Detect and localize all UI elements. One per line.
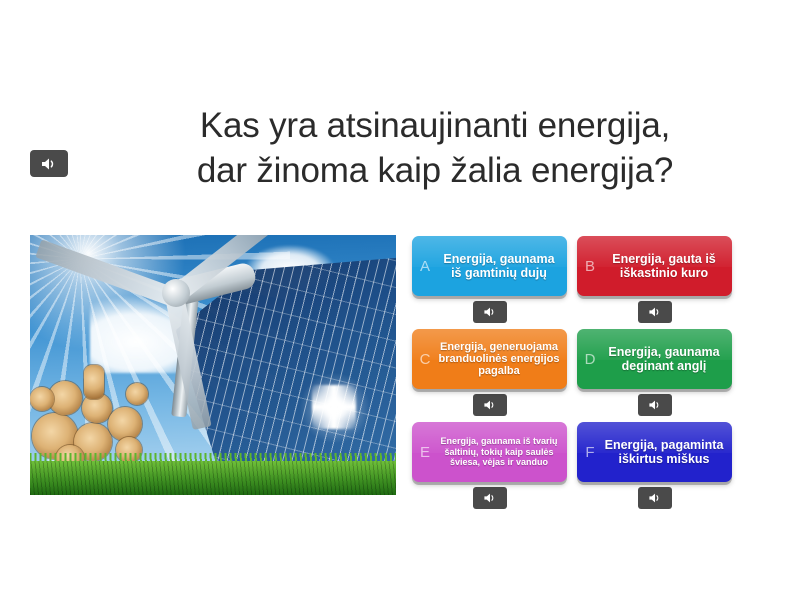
answer-cell-d: D Energija, gaunama deginant anglį — [577, 329, 732, 416]
answer-audio-button-f[interactable] — [638, 487, 672, 509]
answer-letter-d: D — [577, 351, 603, 368]
quiz-screen: Kas yra atsinaujinanti energija, dar žin… — [0, 0, 800, 600]
answer-text-c: Energija, generuojama branduolinės energ… — [438, 341, 567, 378]
answer-text-f: Energija, pagaminta iškirtus miškus — [603, 438, 732, 467]
answer-letter-e: E — [412, 444, 438, 461]
answer-audio-button-a[interactable] — [473, 301, 507, 323]
speaker-icon — [481, 491, 499, 505]
question-image — [30, 235, 396, 495]
answer-audio-button-c[interactable] — [473, 394, 507, 416]
speaker-icon — [646, 491, 664, 505]
answer-letter-b: B — [577, 258, 603, 275]
answers-grid: A Energija, gaunama iš gamtinių dujų B E… — [412, 236, 732, 509]
speaker-icon — [40, 157, 58, 171]
answer-cell-f: F Energija, pagaminta iškirtus miškus — [577, 422, 732, 509]
answer-button-c[interactable]: C Energija, generuojama branduolinės ene… — [412, 329, 567, 389]
answer-text-b: Energija, gauta iš iškastinio kuro — [603, 252, 732, 281]
answer-button-f[interactable]: F Energija, pagaminta iškirtus miškus — [577, 422, 732, 482]
answer-button-b[interactable]: B Energija, gauta iš iškastinio kuro — [577, 236, 732, 296]
answer-audio-button-d[interactable] — [638, 394, 672, 416]
answer-cell-e: E Energija, gaunama iš tvarių šaltinių, … — [412, 422, 567, 509]
answer-audio-button-e[interactable] — [473, 487, 507, 509]
answer-button-a[interactable]: A Energija, gaunama iš gamtinių dujų — [412, 236, 567, 296]
answer-cell-b: B Energija, gauta iš iškastinio kuro — [577, 236, 732, 323]
speaker-icon — [646, 305, 664, 319]
answer-text-d: Energija, gaunama deginant anglį — [603, 345, 732, 374]
question-title: Kas yra atsinaujinanti energija, dar žin… — [90, 104, 780, 194]
answer-cell-a: A Energija, gaunama iš gamtinių dujų — [412, 236, 567, 323]
answer-text-a: Energija, gaunama iš gamtinių dujų — [438, 252, 567, 281]
answer-letter-a: A — [412, 258, 438, 275]
answer-text-e: Energija, gaunama iš tvarių šaltinių, to… — [438, 436, 567, 468]
question-audio-button[interactable] — [30, 150, 68, 177]
answer-letter-c: C — [412, 351, 438, 368]
answer-audio-button-b[interactable] — [638, 301, 672, 323]
answer-button-e[interactable]: E Energija, gaunama iš tvarių šaltinių, … — [412, 422, 567, 482]
grass-layer — [30, 461, 396, 495]
turbine-hub — [162, 279, 190, 307]
answer-letter-f: F — [577, 444, 603, 461]
sun-flare-star — [312, 385, 356, 429]
speaker-icon — [481, 305, 499, 319]
answer-cell-c: C Energija, generuojama branduolinės ene… — [412, 329, 567, 416]
speaker-icon — [481, 398, 499, 412]
answer-button-d[interactable]: D Energija, gaunama deginant anglį — [577, 329, 732, 389]
speaker-icon — [646, 398, 664, 412]
